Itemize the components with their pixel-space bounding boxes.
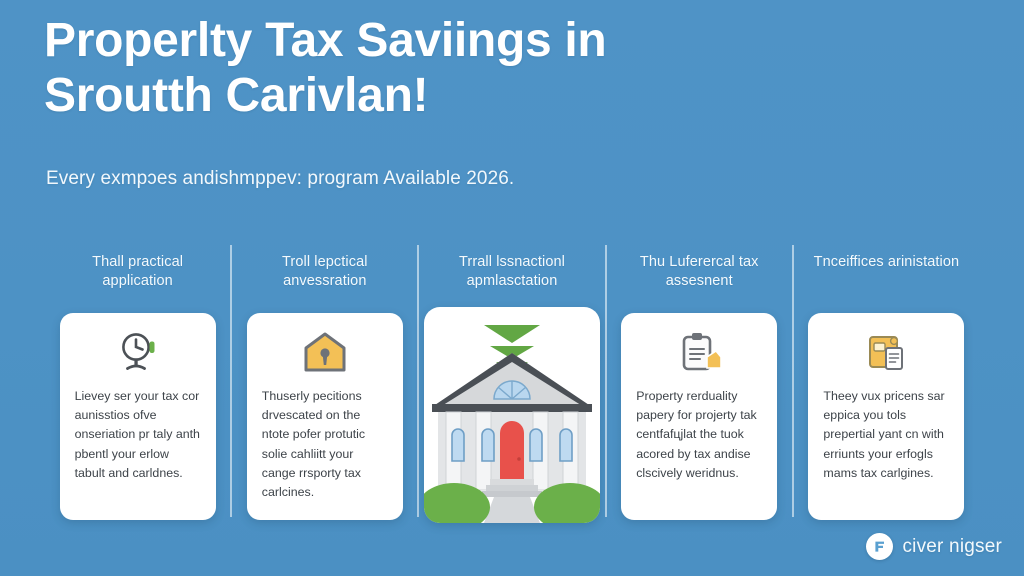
column-2: Troll lepctical anvessration Thuserly pe… bbox=[231, 243, 418, 528]
card-4[interactable]: Property rerduality papery for projerty … bbox=[621, 313, 777, 520]
card-1[interactable]: Lievey ser your tax cor aunisstios ofve … bbox=[60, 313, 216, 520]
infographic-poster: Properlty Tax Saviings in Sroutth Carivl… bbox=[0, 0, 1024, 576]
folder-document-icon bbox=[865, 329, 907, 375]
column-3: Trrall lssnactionl apmlasctation bbox=[418, 243, 605, 528]
card-1-body: Lievey ser your tax cor aunisstios ofve … bbox=[60, 387, 216, 483]
card-5-body: Theey vux pricens sar eppica you tols pr… bbox=[808, 387, 964, 483]
card-2-body: Thuserly pecitions drvescated on the nto… bbox=[247, 387, 403, 502]
column-1: Thall practical application Lievey ser y… bbox=[44, 243, 231, 528]
column-4: Thu Luferercal tax assesnent Property re… bbox=[606, 243, 793, 528]
column-group: Thall practical application Lievey ser y… bbox=[44, 243, 980, 528]
column-5-heading: Tnceiffices arinistation bbox=[810, 243, 962, 299]
column-2-heading: Troll lepctical anvessration bbox=[249, 243, 401, 299]
page-title-line-1: Properlty Tax Saviings in bbox=[44, 14, 944, 69]
clipboard-house-icon bbox=[677, 329, 721, 375]
column-5: Tnceiffices arinistation Theey vux price… bbox=[793, 243, 980, 528]
column-3-heading: Trrall lssnactionl apmlasctation bbox=[436, 243, 588, 299]
clock-icon bbox=[115, 329, 161, 375]
page-title: Properlty Tax Saviings in Sroutth Carivl… bbox=[44, 14, 944, 123]
page-subtitle: Every exmpɔes andishmppev: program Avail… bbox=[46, 168, 926, 190]
f-badge-icon bbox=[866, 533, 893, 560]
courthouse-illustration bbox=[424, 307, 600, 523]
card-5[interactable]: Theey vux pricens sar eppica you tols pr… bbox=[808, 313, 964, 520]
house-keyhole-icon bbox=[303, 329, 347, 375]
column-1-heading: Thall practical application bbox=[62, 243, 214, 299]
page-title-line-2: Sroutth Carivlan! bbox=[44, 69, 944, 124]
card-3[interactable] bbox=[424, 307, 600, 523]
column-4-heading: Thu Luferercal tax assesnent bbox=[623, 243, 775, 299]
brand-logo-text: civer nigser bbox=[902, 536, 1002, 558]
card-4-body: Property rerduality papery for projerty … bbox=[621, 387, 777, 483]
brand-logo[interactable]: civer nigser bbox=[866, 533, 1002, 560]
card-2[interactable]: Thuserly pecitions drvescated on the nto… bbox=[247, 313, 403, 520]
